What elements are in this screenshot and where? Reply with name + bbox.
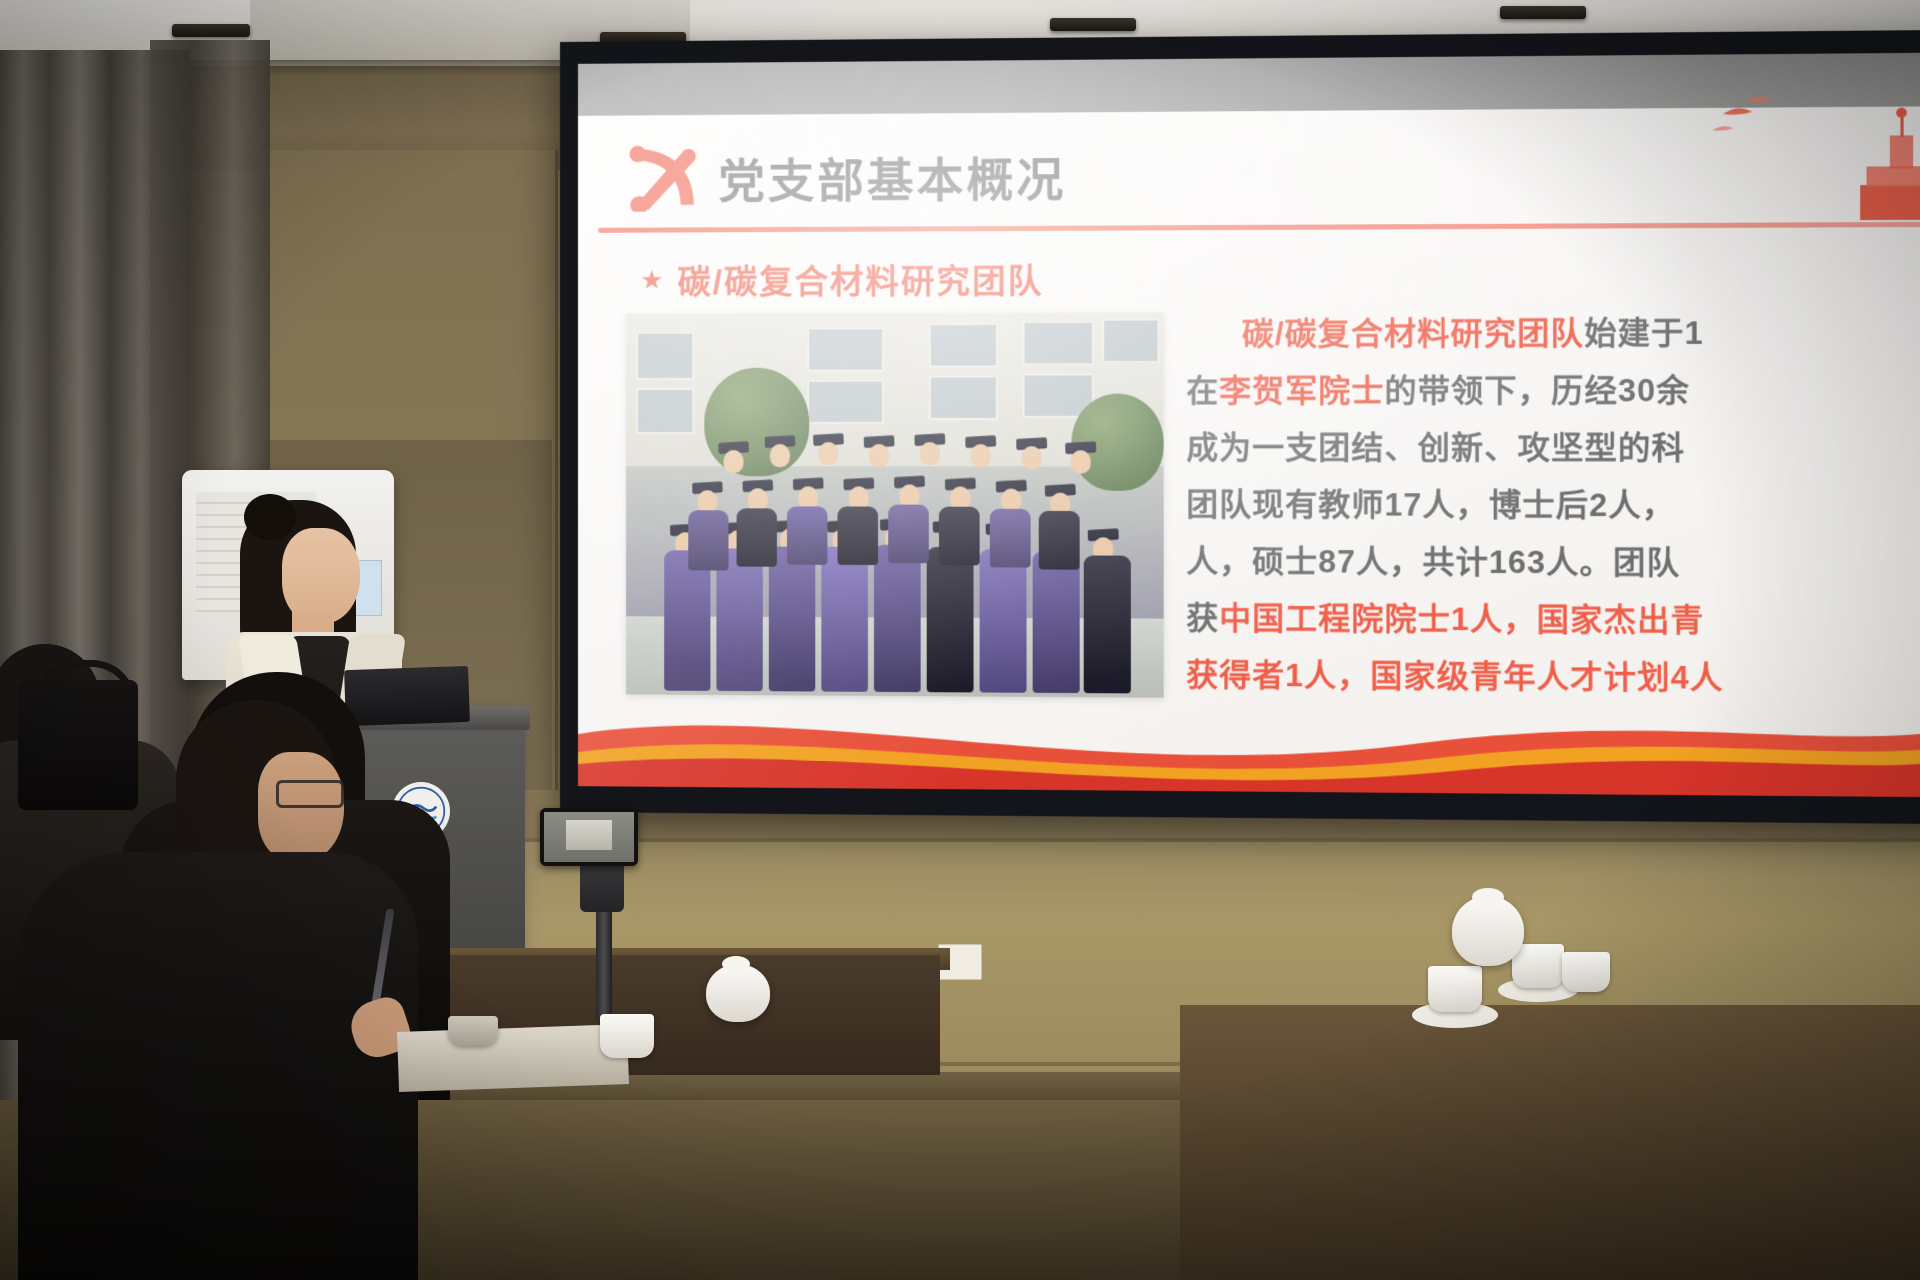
body-line-7-red: 获得者1人，国家级青年人才计划4人 — [1186, 657, 1723, 696]
photo-window — [807, 327, 884, 371]
laptop — [344, 666, 470, 726]
photo-window — [1102, 319, 1159, 364]
teacup[interactable] — [1562, 952, 1610, 992]
teapot-lid — [1472, 888, 1504, 906]
eyeglasses-icon — [276, 780, 344, 808]
presenter-hair-bun — [244, 494, 296, 540]
teacup[interactable] — [600, 1014, 654, 1058]
teapot[interactable] — [706, 964, 770, 1022]
audience-person-man-body — [18, 852, 418, 1280]
slide-subtitle: 碳/碳复合材料研究团队 — [678, 254, 1044, 304]
screenshot-root: 党支部基本概况 — [0, 0, 1920, 1280]
notebook-on-table[interactable] — [397, 1024, 629, 1092]
ceiling-light — [1500, 6, 1586, 19]
body-line-3: 成为一支团结、创新、攻坚型的科 — [1186, 420, 1920, 478]
phone-screen-preview — [566, 820, 612, 850]
ceiling-light — [172, 24, 250, 37]
flag-decoration — [1702, 94, 1920, 221]
body-line-2-red: 李贺军院士 — [1219, 373, 1384, 409]
photo-window — [1022, 321, 1094, 366]
handbag — [18, 680, 138, 810]
team-group-photo — [626, 312, 1164, 697]
stationery-tray[interactable] — [448, 1016, 498, 1046]
photo-tree — [704, 368, 809, 477]
slide-bottom-wave-decoration — [578, 694, 1920, 797]
projection-screen-frame: 党支部基本概况 — [560, 30, 1920, 824]
presentation-slide: 党支部基本概况 — [578, 106, 1920, 797]
teacup[interactable] — [1428, 966, 1482, 1012]
presenter-face — [282, 528, 360, 624]
photo-window — [636, 388, 694, 434]
table-foreground-right — [1180, 1005, 1920, 1280]
teapot-lid — [722, 956, 750, 972]
photo-window — [929, 323, 998, 368]
body-line-1-red: 碳/碳复合材料研究团队 — [1242, 315, 1584, 351]
body-line-2: 在李贺军院士的带领下，历经30余 — [1186, 362, 1920, 420]
slide-title: 党支部基本概况 — [718, 143, 1066, 211]
body-line-4: 团队现有教师17人，博士后2人， — [1186, 477, 1920, 536]
body-line-1-gray: 始建于1 — [1584, 315, 1704, 351]
body-line-6-gray: 获 — [1186, 600, 1219, 636]
gimbal-motor-body[interactable] — [580, 858, 624, 912]
body-line-6: 获中国工程院院士1人，国家杰出青 — [1186, 590, 1920, 650]
title-underline-rule — [598, 222, 1920, 233]
hammer-and-sickle-icon — [622, 137, 706, 212]
body-line-6-red: 中国工程院院士1人，国家杰出青 — [1219, 601, 1704, 639]
teacup[interactable] — [1512, 944, 1564, 988]
ceiling-light — [1050, 18, 1136, 31]
slide-subtitle-row: ★ 碳/碳复合材料研究团队 — [640, 254, 1043, 304]
photo-window — [929, 375, 998, 419]
projection-screen: 党支部基本概况 — [578, 53, 1920, 798]
body-line-1: 碳/碳复合材料研究团队始建于1 — [1186, 304, 1920, 363]
star-bullet-icon: ★ — [640, 267, 663, 293]
body-line-5: 人，硕士87人，共计163人。团队 — [1186, 533, 1920, 592]
teapot[interactable] — [1452, 896, 1524, 966]
body-line-2-gray-a: 在 — [1186, 373, 1219, 409]
photo-window — [807, 380, 884, 424]
slide-body-text: 碳/碳复合材料研究团队始建于1 在李贺军院士的带领下，历经30余 成为一支团结、… — [1186, 304, 1920, 708]
photo-window — [636, 332, 694, 380]
body-line-2-gray-b: 的带领下，历经30余 — [1384, 373, 1689, 409]
